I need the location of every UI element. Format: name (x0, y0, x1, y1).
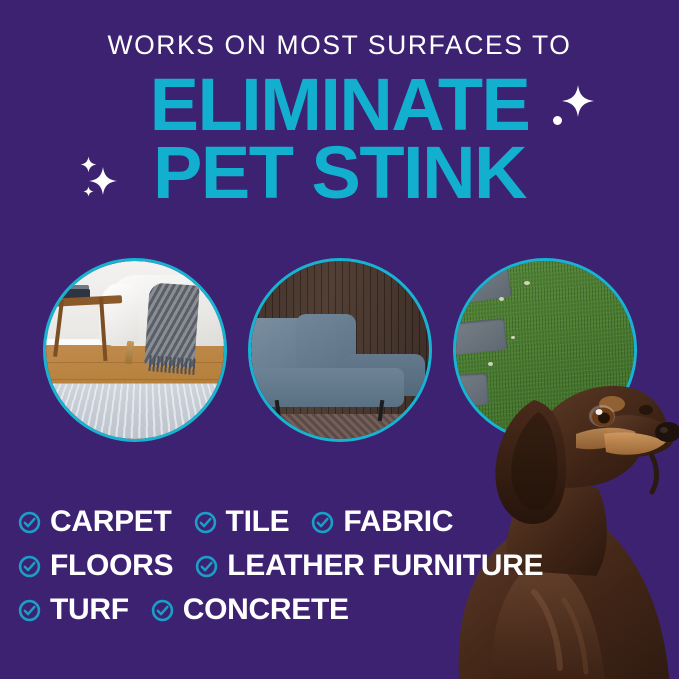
surface-item-carpet: CARPET (18, 507, 172, 537)
check-circle-icon (195, 555, 218, 578)
check-circle-icon (18, 599, 41, 622)
check-circle-icon (151, 599, 174, 622)
surface-row: CARPET TILE FABRIC (18, 500, 518, 544)
surface-row: FLOORS LEATHER FURNITURE (18, 544, 518, 588)
headline-line-1: ELIMINATE (0, 72, 679, 137)
surface-row: TURF CONCRETE (18, 588, 518, 632)
eyebrow-text: WORKS ON MOST SURFACES TO (0, 32, 679, 59)
check-circle-icon (18, 511, 41, 534)
surface-item-turf: TURF (18, 595, 129, 625)
headline-block: WORKS ON MOST SURFACES TO ELIMINATE PET … (0, 0, 679, 230)
photo-living-room-rug (43, 258, 227, 442)
headline-line-2: PET STINK (0, 140, 679, 205)
surface-label: TILE (226, 507, 290, 537)
surface-label: FABRIC (343, 507, 453, 537)
check-circle-icon (194, 511, 217, 534)
surface-label: CONCRETE (183, 595, 349, 625)
surface-label: CARPET (50, 507, 172, 537)
check-circle-icon (311, 511, 334, 534)
surface-item-fabric: FABRIC (311, 507, 453, 537)
surface-label: LEATHER FURNITURE (227, 551, 543, 581)
surface-label: TURF (50, 595, 129, 625)
surface-item-concrete: CONCRETE (151, 595, 349, 625)
surface-list: CARPET TILE FABRIC (18, 500, 518, 632)
surface-item-tile: TILE (194, 507, 290, 537)
surface-item-floors: FLOORS (18, 551, 173, 581)
surface-label: FLOORS (50, 551, 173, 581)
check-circle-icon (18, 555, 41, 578)
photo-fabric-sofa (248, 258, 432, 442)
surface-item-leather-furniture: LEATHER FURNITURE (195, 551, 543, 581)
product-infographic: WORKS ON MOST SURFACES TO ELIMINATE PET … (0, 0, 679, 679)
